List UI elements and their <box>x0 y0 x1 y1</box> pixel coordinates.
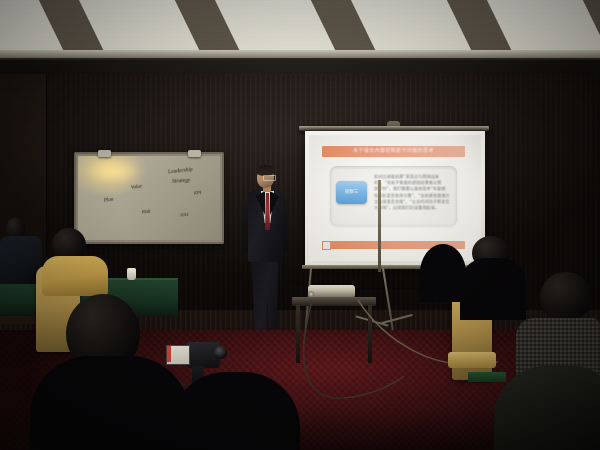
paper-cup <box>127 268 136 280</box>
whiteboard-note: Risk <box>142 210 151 216</box>
audience-body <box>30 356 190 450</box>
camcorder-lcd-highlight <box>167 346 171 362</box>
audience-body <box>460 258 526 320</box>
slide-title-text: 关于强化内部控制若干问题的思考 <box>322 146 465 157</box>
conference-room-photo: LeadershipStrategyValueKPIPlanRisk2011 关… <box>0 0 600 450</box>
camera-lens-icon <box>214 346 227 359</box>
seat-cushion <box>468 372 506 382</box>
whiteboard-note: KPI <box>194 190 202 195</box>
slide-callout-box: 观察三 如对比调查结果“发现点与预测出来的”、“现有平衡度的绩效结果难以预测不符… <box>330 166 457 226</box>
audience-head <box>540 272 592 322</box>
table-leg <box>368 305 372 363</box>
whiteboard-clip <box>188 150 201 157</box>
slide-body-text: 如对比调查结果“发现点与预测出来的”、“现有平衡度的绩效结果难以预测不符”，我们… <box>374 174 452 211</box>
whiteboard-clip <box>98 150 111 157</box>
slide-body-line: 效分析是否依然可靠”、“当前绩效管理方 <box>374 193 452 199</box>
slide-badge-text: 观察三 <box>336 181 367 204</box>
glasses-icon <box>263 175 276 181</box>
whiteboard: LeadershipStrategyValueKPIPlanRisk2011 <box>74 152 224 244</box>
whiteboard-glare <box>84 158 140 184</box>
slide-body-line: 测不符”，我们需要认真地思考“年度绩 <box>374 186 452 192</box>
slide-body-line: 大影响”，后续我们应该重视起来。 <box>374 205 452 211</box>
audience-yellow-jacket <box>42 256 108 296</box>
projector-table-top <box>292 297 376 306</box>
chair-cover-skirt <box>448 352 496 368</box>
table-leg <box>296 305 300 363</box>
slide-title-bar: 关于强化内部控制若干问题的思考 <box>322 146 465 157</box>
screen-tripod-pole <box>378 180 381 272</box>
whiteboard-note: Strategy <box>172 177 191 184</box>
whiteboard-note: 2011 <box>180 212 189 217</box>
projected-slide: 关于强化内部控制若干问题的思考 观察三 如对比调查结果“发现点与预测出来的”、“… <box>309 135 481 261</box>
slide-badge: 观察三 <box>336 181 367 204</box>
audience-body <box>420 244 466 302</box>
